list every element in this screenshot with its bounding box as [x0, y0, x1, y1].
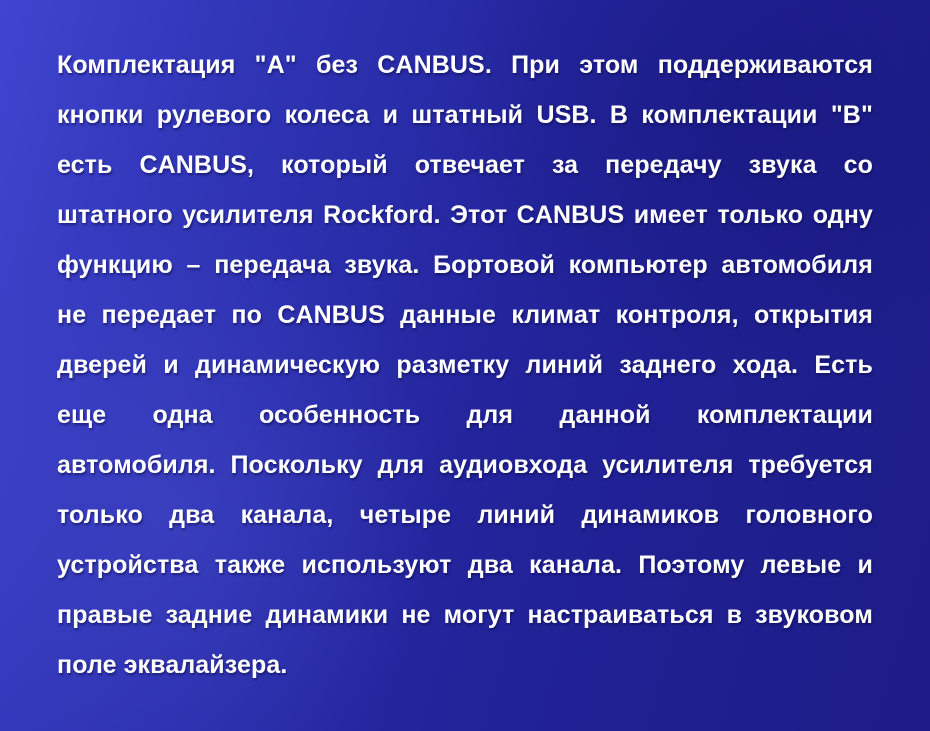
- word: правые: [57, 590, 153, 640]
- word: функцию: [57, 240, 173, 290]
- paragraph-line: кнопкирулевогоколесаиштатныйUSB.Вкомплек…: [57, 90, 873, 140]
- word: и: [383, 90, 398, 140]
- word: имеет: [634, 190, 708, 240]
- word: Есть: [814, 340, 873, 390]
- word: При: [511, 40, 560, 90]
- word: "В": [831, 90, 873, 140]
- paragraph-line: непередаетпоCANBUSданныеклиматконтроля,о…: [57, 290, 873, 340]
- word: контроля,: [616, 290, 739, 340]
- word: звука: [749, 140, 817, 190]
- word: есть: [57, 140, 113, 190]
- word: для: [466, 390, 513, 440]
- word: только: [57, 490, 143, 540]
- word: настраиваться: [527, 590, 713, 640]
- slide-canvas: Комплектация"А"безCANBUS.Приэтомподдержи…: [0, 0, 930, 731]
- word: для: [378, 440, 425, 490]
- word: четыре: [360, 490, 451, 540]
- word: –: [187, 240, 201, 290]
- word: автомобиля: [721, 240, 873, 290]
- word: канала,: [241, 490, 334, 540]
- word: со: [844, 140, 873, 190]
- word: разметку: [396, 340, 509, 390]
- word: комплектации: [697, 390, 873, 440]
- word: этом: [579, 40, 638, 90]
- word: отвечает: [415, 140, 525, 190]
- word: поддерживаются: [658, 40, 873, 90]
- word: передачу: [605, 140, 722, 190]
- word: динамики: [265, 590, 388, 640]
- word: дверей: [57, 340, 147, 390]
- word: Комплектация: [57, 40, 235, 90]
- word: Поэтому: [638, 540, 744, 590]
- word: и: [858, 540, 873, 590]
- word: рулевого: [157, 90, 271, 140]
- word: только: [717, 190, 803, 240]
- paragraph-line: ещеоднаособенностьдляданнойкомплектации: [57, 390, 873, 440]
- paragraph-line: Комплектация"А"безCANBUS.Приэтомподдержи…: [57, 40, 873, 90]
- word: могут: [444, 590, 515, 640]
- word: звуковом: [755, 590, 873, 640]
- word: хода.: [733, 340, 798, 390]
- word: два: [468, 540, 513, 590]
- word: за: [552, 140, 578, 190]
- word: который: [281, 140, 388, 190]
- word: USB.: [536, 90, 596, 140]
- paragraph-line: естьCANBUS,которыйотвечаетзапередачузвук…: [57, 140, 873, 190]
- paragraph-body: Комплектация"А"безCANBUS.Приэтомподдержи…: [57, 40, 873, 690]
- word: передача: [214, 240, 331, 290]
- word: CANBUS,: [139, 140, 254, 190]
- paragraph-line: устройстватакжеиспользуютдваканала.Поэто…: [57, 540, 873, 590]
- word: одну: [813, 190, 873, 240]
- word: задние: [166, 590, 253, 640]
- word: эквалайзера.: [117, 640, 288, 690]
- word: не: [401, 590, 430, 640]
- word: Rockford.: [323, 190, 441, 240]
- word: компьютер: [569, 240, 708, 290]
- word: CANBUS.: [377, 40, 492, 90]
- word: открытия: [754, 290, 873, 340]
- word: заднего: [619, 340, 716, 390]
- paragraph-line: правыезадниединамикинемогутнастраиваться…: [57, 590, 873, 640]
- word: требуется: [748, 440, 873, 490]
- word: линий: [526, 340, 604, 390]
- word: динамиков: [581, 490, 719, 540]
- word: передает: [102, 290, 217, 340]
- word: Этот: [450, 190, 507, 240]
- word: усилителя: [602, 440, 733, 490]
- word: одна: [152, 390, 212, 440]
- paragraph-line: функцию–передачазвука.Бортовойкомпьютера…: [57, 240, 873, 290]
- word: по: [231, 290, 262, 340]
- word: поле: [57, 640, 117, 690]
- word: CANBUS: [277, 290, 385, 340]
- paragraph-line: толькодваканала,четырелинийдинамиковголо…: [57, 490, 873, 540]
- word: устройства: [57, 540, 198, 590]
- word: два: [169, 490, 214, 540]
- word: Поскольку: [230, 440, 362, 490]
- word: аудиовхода: [439, 440, 587, 490]
- word: канала.: [529, 540, 622, 590]
- word: данные: [400, 290, 496, 340]
- word: кнопки: [57, 90, 143, 140]
- word: динамическую: [195, 340, 380, 390]
- word: особенность: [259, 390, 420, 440]
- word: в: [727, 590, 742, 640]
- word: также: [215, 540, 285, 590]
- word: линий: [477, 490, 555, 540]
- word: еще: [57, 390, 106, 440]
- word: данной: [559, 390, 650, 440]
- paragraph-line: автомобиля.Посколькудляаудиовходаусилите…: [57, 440, 873, 490]
- word: штатного: [57, 190, 173, 240]
- word: звука.: [344, 240, 419, 290]
- word: и: [163, 340, 178, 390]
- word: головного: [745, 490, 873, 540]
- word: климат: [511, 290, 600, 340]
- word: "А": [255, 40, 297, 90]
- word: колеса: [285, 90, 370, 140]
- word: штатный: [411, 90, 523, 140]
- paragraph-line: поле эквалайзера.: [57, 640, 873, 690]
- word: усилителя: [182, 190, 313, 240]
- word: комплектации: [641, 90, 817, 140]
- word: не: [57, 290, 86, 340]
- word: автомобиля.: [57, 440, 216, 490]
- word: без: [316, 40, 358, 90]
- word: левые: [761, 540, 842, 590]
- word: В: [610, 90, 628, 140]
- word: CANBUS: [517, 190, 625, 240]
- word: используют: [302, 540, 452, 590]
- word: Бортовой: [433, 240, 555, 290]
- paragraph-line: штатногоусилителяRockford.ЭтотCANBUSимее…: [57, 190, 873, 240]
- paragraph-line: дверейидинамическуюразметкулинийзаднегох…: [57, 340, 873, 390]
